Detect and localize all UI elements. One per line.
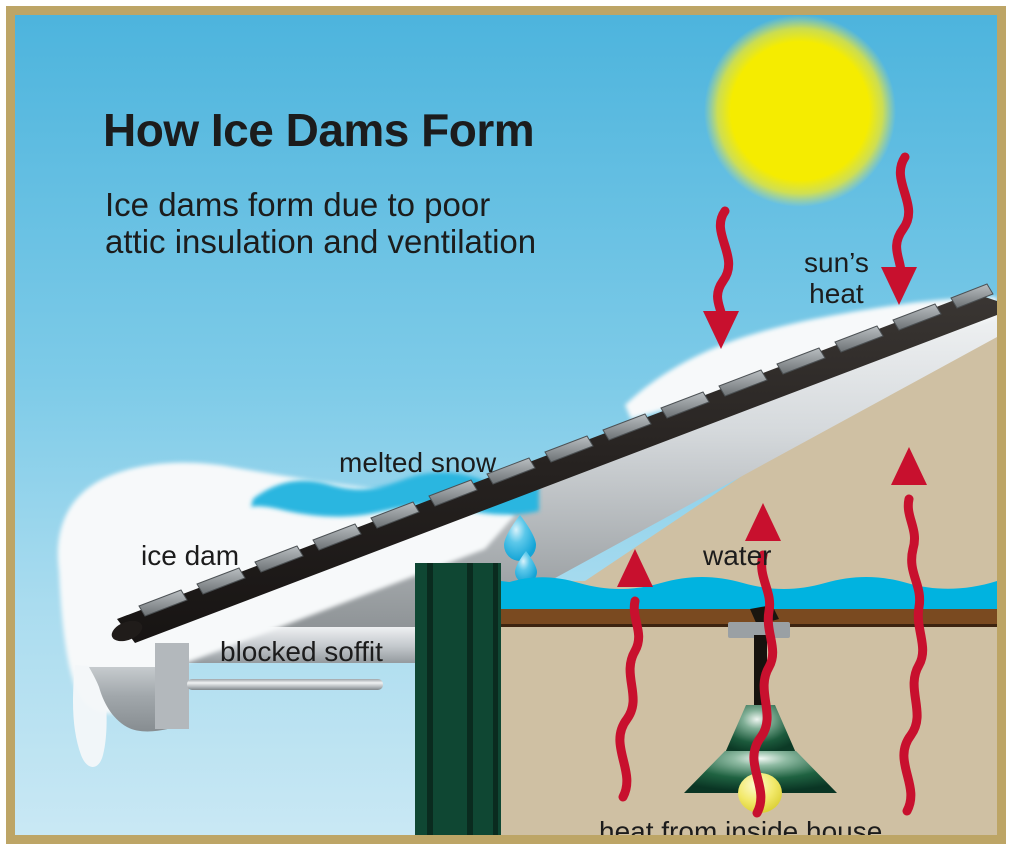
sun-icon: [704, 15, 896, 207]
standing-water-pocket: [501, 581, 535, 609]
infographic-ice-dams: How Ice Dams Form Ice dams form due to p…: [0, 0, 1012, 850]
wall-seam-line: [467, 563, 473, 835]
ice-dam-illustration: [15, 15, 997, 835]
wall-seam-line: [427, 563, 433, 835]
poster-frame: How Ice Dams Form Ice dams form due to p…: [6, 6, 1006, 844]
gutter-bracket: [155, 643, 189, 729]
wall-seam-line: [493, 563, 498, 835]
soffit-vent-icon: [187, 679, 383, 690]
